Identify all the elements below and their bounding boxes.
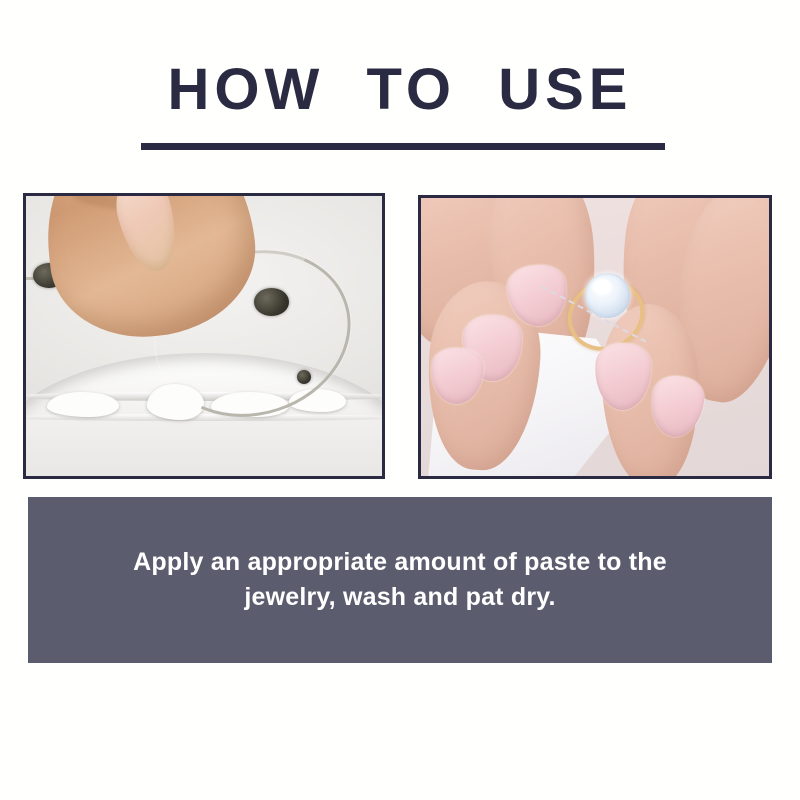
tarnish-spot (297, 370, 311, 384)
photo-applying-paste (23, 193, 385, 479)
page-header: HOW TO USE (0, 60, 800, 121)
instruction-caption-box: Apply an appropriate amount of paste to … (28, 497, 772, 663)
photo-applying-paste-image (26, 196, 382, 476)
paste-jar-scene (26, 196, 382, 476)
title-underline-rule (141, 143, 665, 150)
photo-polishing-ring-image (421, 198, 769, 476)
page-title: HOW TO USE (0, 60, 800, 121)
thumbnail (110, 196, 186, 277)
photo-polishing-ring (418, 195, 772, 479)
paste-blob (47, 392, 118, 417)
instruction-photo-row (0, 193, 800, 479)
instruction-caption-text: Apply an appropriate amount of paste to … (103, 545, 697, 616)
ring-polishing-scene (421, 198, 769, 476)
